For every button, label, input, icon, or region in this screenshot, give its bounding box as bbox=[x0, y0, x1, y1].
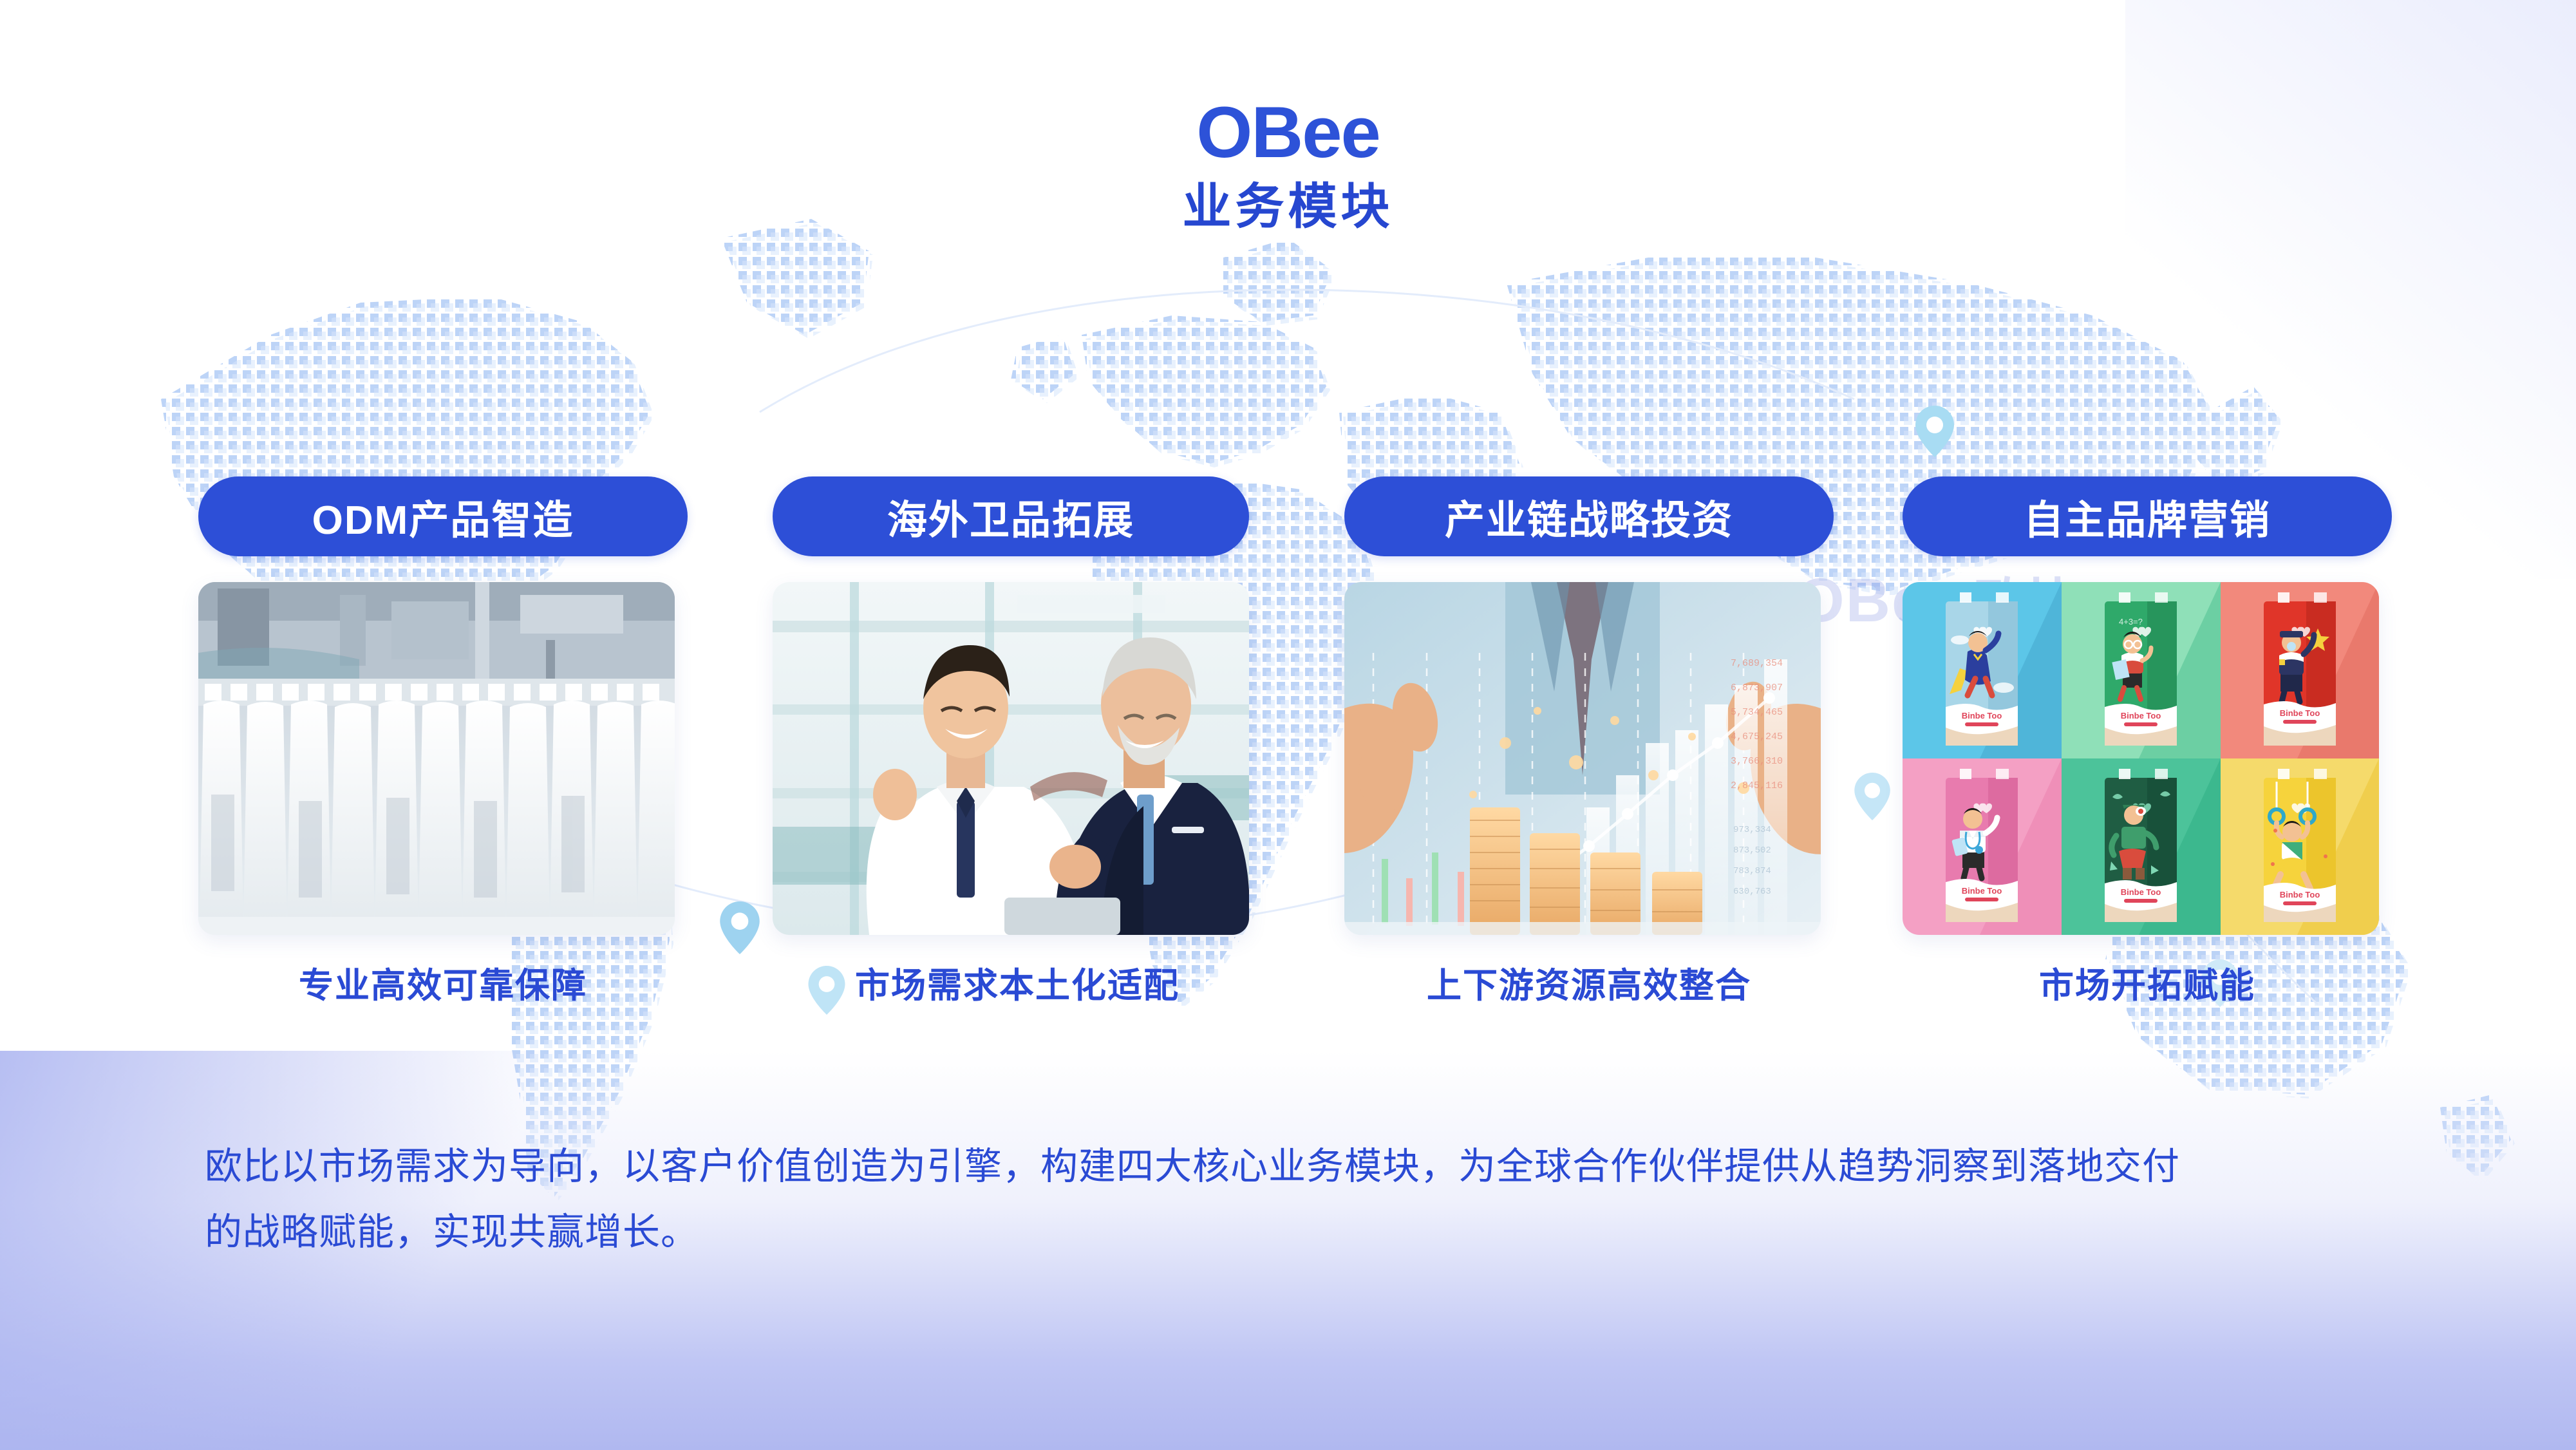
module-caption-odm: 专业高效可靠保障 bbox=[198, 957, 688, 1008]
svg-text:6,873,907: 6,873,907 bbox=[1731, 683, 1783, 693]
svg-text:Binbe Too: Binbe Too bbox=[2280, 708, 2320, 718]
svg-text:630,763: 630,763 bbox=[1733, 887, 1771, 897]
map-pin-icon bbox=[1915, 406, 1954, 457]
summary-line-2: 的战略赋能，实现共赢增长。 bbox=[205, 1202, 2420, 1263]
summary-paragraph: 欧比以市场需求为导向，以客户价值创造为引擎，构建四大核心业务模块，为全球合作伙伴… bbox=[205, 1136, 2420, 1263]
svg-text:Binbe Too: Binbe Too bbox=[1962, 886, 2002, 896]
business-partners-photo bbox=[773, 582, 1249, 935]
svg-text:Binbe Too: Binbe Too bbox=[1962, 711, 2002, 720]
svg-text:7,689,354: 7,689,354 bbox=[1731, 658, 1783, 669]
module-caption-investment: 上下游资源高效整合 bbox=[1344, 957, 1834, 1008]
svg-text:4+3=?: 4+3=? bbox=[2119, 617, 2143, 626]
module-card-brand[interactable]: 自主品牌营销 bbox=[1903, 476, 2392, 1008]
brand-packaging-grid-photo: Binbe Too 4+3=? bbox=[1903, 582, 2379, 935]
svg-text:Binbe Too: Binbe Too bbox=[2121, 887, 2161, 897]
svg-text:783,874: 783,874 bbox=[1733, 866, 1771, 876]
summary-line-1: 欧比以市场需求为导向，以客户价值创造为引擎，构建四大核心业务模块，为全球合作伙伴… bbox=[205, 1136, 2420, 1197]
factory-production-line-photo bbox=[198, 582, 675, 935]
module-caption-overseas: 市场需求本土化适配 bbox=[773, 957, 1262, 1008]
module-caption-brand: 市场开拓赋能 bbox=[1903, 957, 2392, 1008]
investment-growth-chart-photo: 7,689,354 6,873,907 5,734,465 4,675,245 … bbox=[1344, 582, 1821, 935]
module-card-overseas[interactable]: 海外卫品拓展 bbox=[773, 476, 1262, 1008]
page-header: OBee 业务模块 bbox=[0, 97, 2576, 232]
svg-text:5,734,465: 5,734,465 bbox=[1731, 707, 1783, 718]
svg-text:973,334: 973,334 bbox=[1733, 825, 1771, 835]
module-card-investment[interactable]: 产业链战略投资 bbox=[1344, 476, 1834, 1008]
svg-text:4,675,245: 4,675,245 bbox=[1731, 731, 1783, 742]
svg-text:Binbe Too: Binbe Too bbox=[2121, 711, 2161, 720]
module-card-odm[interactable]: ODM产品智造 bbox=[198, 476, 688, 1008]
module-title-overseas: 海外卫品拓展 bbox=[773, 476, 1249, 556]
module-title-odm: ODM产品智造 bbox=[198, 476, 688, 556]
svg-text:Binbe Too: Binbe Too bbox=[2280, 890, 2320, 899]
svg-text:2,845,116: 2,845,116 bbox=[1731, 780, 1783, 791]
module-title-brand: 自主品牌营销 bbox=[1903, 476, 2392, 556]
obee-logo: OBee bbox=[1196, 97, 1380, 169]
page-title: 业务模块 bbox=[0, 183, 2576, 232]
svg-text:3,766,310: 3,766,310 bbox=[1731, 756, 1783, 767]
svg-text:873,502: 873,502 bbox=[1733, 845, 1771, 856]
business-module-cards: ODM产品智造 bbox=[0, 476, 2576, 1017]
module-title-investment: 产业链战略投资 bbox=[1344, 476, 1834, 556]
